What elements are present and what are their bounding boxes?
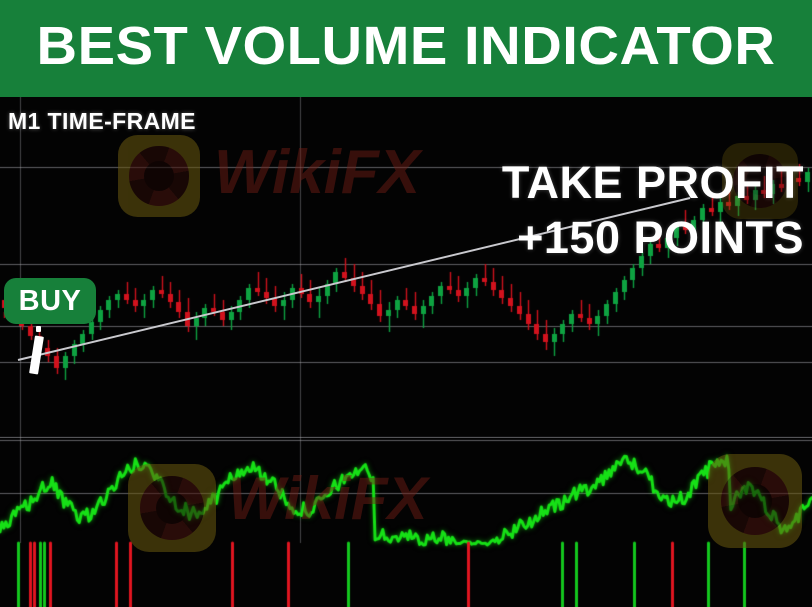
timeframe-label: M1 TIME-FRAME	[8, 108, 196, 135]
candlestick-canvas	[0, 97, 812, 438]
page-title: BEST VOLUME INDICATOR	[0, 16, 812, 76]
price-panel: WikiFX	[0, 97, 812, 438]
take-profit-label: TAKE PROFIT	[502, 158, 804, 208]
take-profit-points-label: +150 POINTS	[517, 213, 804, 263]
buy-arrow-marker-dot	[36, 326, 41, 332]
volume-indicator-panel: WikiFX	[0, 438, 812, 607]
indicator-promo-image: BEST VOLUME INDICATOR WikiFX	[0, 0, 812, 607]
volume-oscillator-canvas	[0, 438, 812, 607]
buy-signal-badge: BUY	[4, 278, 96, 324]
buy-signal-label: BUY	[19, 287, 82, 316]
header-banner: BEST VOLUME INDICATOR	[0, 0, 812, 97]
